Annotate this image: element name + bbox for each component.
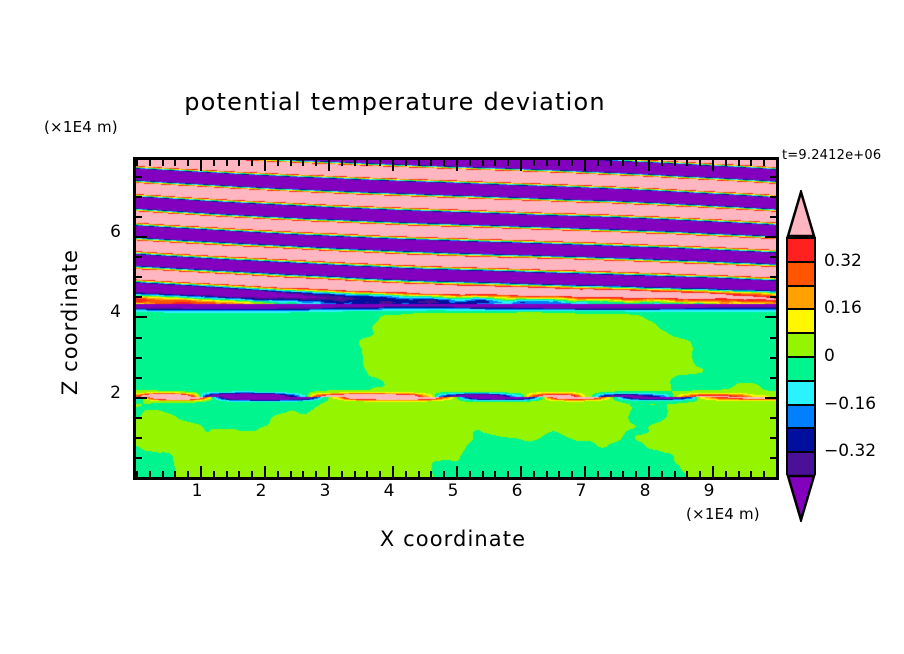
- tick-x-top: [136, 160, 138, 166]
- x-tick-label: 2: [241, 481, 281, 501]
- tick-y-right: [770, 296, 776, 298]
- x-tick-label: 7: [561, 481, 601, 501]
- tick-x-bottom: [366, 471, 368, 477]
- y-tick-label: 2: [87, 383, 121, 403]
- tick-x-top: [597, 160, 599, 166]
- tick-x-top: [226, 160, 228, 166]
- y-axis-unit-label: (×1E4 m): [44, 118, 118, 136]
- tick-x-bottom: [738, 471, 740, 477]
- page-title: potential temperature deviation: [0, 88, 790, 116]
- colorbar-band: [788, 334, 814, 358]
- tick-x-bottom: [750, 471, 752, 477]
- tick-x-top: [738, 160, 740, 166]
- colorbar-band: [788, 382, 814, 406]
- tick-x-bottom: [610, 471, 612, 477]
- tick-y-right: [770, 256, 776, 258]
- tick-y-left: [136, 477, 142, 479]
- tick-x-top: [648, 160, 650, 171]
- colorbar-band: [788, 429, 814, 453]
- tick-x-bottom: [482, 471, 484, 477]
- colorbar: 0.320.160−0.16−0.32: [786, 190, 816, 520]
- tick-x-top: [418, 160, 420, 166]
- tick-x-bottom: [264, 466, 266, 477]
- tick-x-top: [661, 160, 663, 166]
- y-axis-title: Z coordinate: [58, 212, 82, 432]
- tick-x-bottom: [418, 471, 420, 477]
- tick-y-left: [136, 397, 147, 399]
- tick-y-left: [136, 377, 142, 379]
- tick-x-top: [776, 160, 778, 171]
- tick-x-bottom: [405, 471, 407, 477]
- tick-x-bottom: [674, 471, 676, 477]
- tick-x-bottom: [315, 471, 317, 477]
- tick-y-left: [136, 357, 142, 359]
- tick-y-right: [770, 417, 776, 419]
- tick-y-left: [136, 236, 147, 238]
- tick-x-bottom: [162, 471, 164, 477]
- tick-x-bottom: [635, 471, 637, 477]
- tick-x-top: [533, 160, 535, 166]
- tick-x-top: [584, 160, 586, 171]
- tick-y-left: [136, 296, 142, 298]
- colorbar-tick-label: 0: [824, 346, 835, 366]
- tick-x-bottom: [392, 466, 394, 477]
- tick-x-top: [162, 160, 164, 166]
- tick-x-top: [469, 160, 471, 166]
- tick-x-bottom: [328, 466, 330, 477]
- tick-y-right: [770, 176, 776, 178]
- colorbar-band: [788, 287, 814, 311]
- tick-x-bottom: [763, 471, 765, 477]
- tick-x-bottom: [686, 471, 688, 477]
- tick-x-top: [405, 160, 407, 166]
- colorbar-under-arrow-icon: [786, 474, 816, 522]
- y-tick-label: 4: [87, 302, 121, 322]
- tick-x-top: [277, 160, 279, 166]
- figure-root: potential temperature deviation (×1E4 m)…: [0, 0, 904, 654]
- colorbar-band: [788, 263, 814, 287]
- tick-x-top: [315, 160, 317, 166]
- tick-x-top: [328, 160, 330, 171]
- y-tick-label: 6: [87, 222, 121, 242]
- tick-x-bottom: [648, 466, 650, 477]
- tick-x-top: [290, 160, 292, 166]
- tick-x-top: [622, 160, 624, 166]
- x-tick-label: 9: [689, 481, 729, 501]
- tick-x-top: [712, 160, 714, 171]
- tick-x-bottom: [251, 471, 253, 477]
- tick-x-bottom: [443, 471, 445, 477]
- tick-x-top: [558, 160, 560, 166]
- colorbar-tick-label: −0.32: [824, 441, 876, 461]
- tick-x-top: [302, 160, 304, 166]
- tick-x-bottom: [597, 471, 599, 477]
- tick-x-bottom: [520, 466, 522, 477]
- tick-x-top: [379, 160, 381, 166]
- tick-y-left: [136, 176, 142, 178]
- tick-x-top: [341, 160, 343, 166]
- tick-x-top: [354, 160, 356, 166]
- tick-x-top: [251, 160, 253, 166]
- tick-y-right: [765, 316, 776, 318]
- tick-x-bottom: [277, 471, 279, 477]
- tick-x-bottom: [354, 471, 356, 477]
- tick-x-top: [392, 160, 394, 171]
- tick-x-top: [686, 160, 688, 166]
- tick-x-bottom: [469, 471, 471, 477]
- tick-x-top: [494, 160, 496, 166]
- tick-x-top: [149, 160, 151, 166]
- tick-x-top: [507, 160, 509, 166]
- tick-x-bottom: [226, 471, 228, 477]
- tick-y-right: [770, 276, 776, 278]
- colorbar-band: [788, 358, 814, 382]
- tick-x-bottom: [456, 466, 458, 477]
- tick-x-top: [366, 160, 368, 166]
- tick-x-top: [520, 160, 522, 171]
- tick-x-top: [763, 160, 765, 166]
- colorbar-band: [788, 406, 814, 430]
- tick-x-top: [456, 160, 458, 171]
- tick-y-right: [765, 397, 776, 399]
- tick-x-bottom: [494, 471, 496, 477]
- tick-x-top: [213, 160, 215, 166]
- tick-x-bottom: [302, 471, 304, 477]
- tick-y-right: [770, 337, 776, 339]
- x-tick-label: 6: [497, 481, 537, 501]
- tick-y-right: [770, 377, 776, 379]
- tick-x-top: [571, 160, 573, 166]
- tick-x-top: [482, 160, 484, 166]
- tick-x-bottom: [379, 471, 381, 477]
- tick-x-top: [610, 160, 612, 166]
- contour-field-canvas: [136, 160, 776, 477]
- x-tick-label: 8: [625, 481, 665, 501]
- x-tick-label: 1: [177, 481, 217, 501]
- colorbar-tick-label: 0.16: [824, 298, 862, 318]
- tick-y-left: [136, 337, 142, 339]
- x-axis-unit-label: (×1E4 m): [686, 505, 760, 523]
- x-axis-title: X coordinate: [133, 527, 773, 551]
- colorbar-band: [788, 310, 814, 334]
- tick-x-bottom: [558, 471, 560, 477]
- tick-y-left: [136, 316, 147, 318]
- tick-x-bottom: [187, 471, 189, 477]
- tick-y-left: [136, 437, 142, 439]
- colorbar-band: [788, 239, 814, 263]
- tick-x-bottom: [661, 471, 663, 477]
- tick-x-bottom: [341, 471, 343, 477]
- tick-x-top: [264, 160, 266, 171]
- tick-x-bottom: [712, 466, 714, 477]
- tick-y-left: [136, 196, 142, 198]
- tick-x-top: [674, 160, 676, 166]
- x-tick-label: 3: [305, 481, 345, 501]
- tick-x-bottom: [725, 471, 727, 477]
- tick-y-left: [136, 216, 142, 218]
- tick-x-top: [725, 160, 727, 166]
- tick-y-right: [770, 216, 776, 218]
- tick-x-bottom: [290, 471, 292, 477]
- tick-x-bottom: [546, 471, 548, 477]
- tick-x-bottom: [174, 471, 176, 477]
- tick-x-bottom: [622, 471, 624, 477]
- colorbar-bands: [786, 237, 816, 475]
- tick-y-right: [770, 196, 776, 198]
- tick-x-bottom: [584, 466, 586, 477]
- tick-x-top: [546, 160, 548, 166]
- tick-y-left: [136, 256, 142, 258]
- tick-x-top: [635, 160, 637, 166]
- contour-plot-area: [133, 157, 779, 480]
- colorbar-tick-label: −0.16: [824, 394, 876, 414]
- tick-x-bottom: [571, 471, 573, 477]
- tick-x-bottom: [200, 466, 202, 477]
- tick-x-top: [430, 160, 432, 166]
- tick-x-top: [699, 160, 701, 166]
- tick-x-bottom: [149, 471, 151, 477]
- tick-x-top: [238, 160, 240, 166]
- tick-x-top: [174, 160, 176, 166]
- tick-y-left: [136, 457, 142, 459]
- tick-x-bottom: [776, 466, 778, 477]
- tick-x-top: [750, 160, 752, 166]
- tick-x-top: [200, 160, 202, 171]
- colorbar-over-arrow-icon: [786, 190, 816, 238]
- tick-y-right: [770, 437, 776, 439]
- tick-y-right: [770, 457, 776, 459]
- tick-x-bottom: [238, 471, 240, 477]
- tick-x-top: [443, 160, 445, 166]
- tick-y-left: [136, 276, 142, 278]
- time-stamp-annotation: t=9.2412e+06: [782, 148, 881, 163]
- tick-x-bottom: [699, 471, 701, 477]
- tick-y-right: [770, 357, 776, 359]
- tick-y-right: [765, 236, 776, 238]
- x-tick-label: 4: [369, 481, 409, 501]
- tick-x-bottom: [533, 471, 535, 477]
- tick-x-bottom: [430, 471, 432, 477]
- colorbar-tick-label: 0.32: [824, 251, 862, 271]
- x-tick-label: 5: [433, 481, 473, 501]
- tick-y-left: [136, 417, 142, 419]
- tick-x-top: [187, 160, 189, 166]
- tick-x-bottom: [213, 471, 215, 477]
- tick-x-bottom: [507, 471, 509, 477]
- tick-y-right: [770, 477, 776, 479]
